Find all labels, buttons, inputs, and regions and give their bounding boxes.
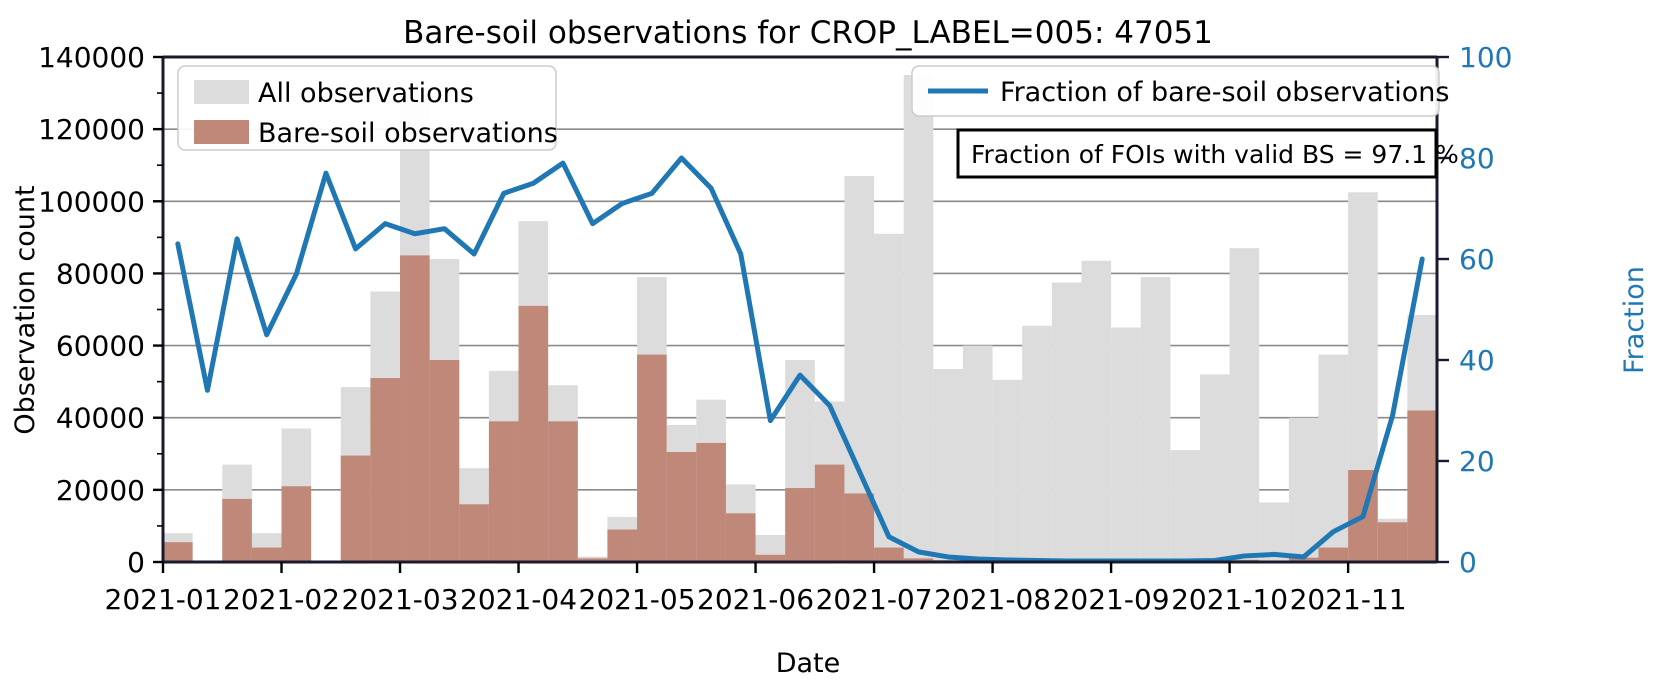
y2-tick-label: 40	[1459, 344, 1495, 377]
x-tick-label: 2021-05	[579, 583, 696, 616]
bar-bare-soil-observations	[696, 443, 726, 562]
y-axis-label: Observation count	[10, 185, 41, 434]
y2-tick-label: 20	[1459, 445, 1495, 478]
bar-all-observations	[1052, 282, 1082, 562]
bar-bare-soil-observations	[370, 378, 400, 562]
bar-all-observations	[993, 380, 1023, 562]
x-tick-label: 2021-06	[697, 583, 814, 616]
x-tick-label: 2021-01	[105, 583, 222, 616]
bar-bare-soil-observations	[815, 465, 845, 562]
bar-bare-soil-observations	[341, 456, 371, 562]
legend-right[interactable]: Fraction of bare-soil observations	[912, 66, 1449, 116]
bar-bare-soil-observations	[400, 255, 430, 562]
bar-bare-soil-observations	[489, 421, 519, 562]
chart-title: Bare-soil observations for CROP_LABEL=00…	[403, 15, 1213, 51]
x-tick-label: 2021-02	[223, 583, 340, 616]
x-tick-label: 2021-11	[1290, 583, 1407, 616]
legend-label-fraction: Fraction of bare-soil observations	[1000, 77, 1449, 108]
bar-all-observations	[1170, 450, 1200, 562]
y-tick-label: 120000	[38, 113, 145, 146]
bar-bare-soil-observations	[548, 421, 578, 562]
bar-bare-soil-observations	[637, 355, 667, 562]
bar-bare-soil-observations	[667, 452, 697, 562]
y2-tick-label: 80	[1459, 142, 1495, 175]
x-axis-label: Date	[776, 648, 841, 679]
chart-svg: Bare-soil observations for CROP_LABEL=00…	[0, 0, 1670, 690]
x-tick-label: 2021-09	[1053, 583, 1170, 616]
y-tick-label: 60000	[56, 330, 145, 363]
bar-bare-soil-observations	[1378, 522, 1408, 562]
y2-tick-label: 0	[1459, 546, 1477, 579]
y2-axis-label: Fraction	[1619, 266, 1650, 374]
legend-label-all-observations: All observations	[258, 78, 474, 109]
bar-all-observations	[933, 369, 963, 562]
x-tick-label: 2021-04	[460, 583, 577, 616]
bar-all-observations	[904, 75, 934, 562]
y-tick-label: 20000	[56, 474, 145, 507]
bar-bare-soil-observations	[874, 548, 904, 562]
y-tick-label: 100000	[38, 185, 145, 218]
bar-bare-soil-observations	[1318, 548, 1348, 562]
bar-bare-soil-observations	[519, 306, 549, 562]
bar-all-observations	[1081, 261, 1111, 562]
bar-all-observations	[1141, 277, 1171, 562]
legend-swatch-all-observations	[194, 80, 249, 104]
annotation-text: Fraction of FOIs with valid BS = 97.1 %	[971, 140, 1459, 169]
bar-all-observations	[1200, 374, 1230, 562]
bar-all-observations	[1289, 418, 1319, 562]
bar-bare-soil-observations	[1407, 411, 1437, 563]
chart-figure: Bare-soil observations for CROP_LABEL=00…	[0, 0, 1670, 690]
y-tick-label: 0	[127, 546, 145, 579]
legend-swatch-bare-soil-observations	[194, 120, 249, 144]
bar-bare-soil-observations	[252, 548, 282, 562]
y-tick-label: 40000	[56, 402, 145, 435]
y2-tick-label: 100	[1459, 41, 1512, 74]
bar-bare-soil-observations	[459, 504, 489, 562]
bar-all-observations	[1022, 326, 1052, 562]
y2-tick-label: 60	[1459, 243, 1495, 276]
bar-bare-soil-observations	[282, 486, 312, 562]
bar-bare-soil-observations	[163, 542, 193, 562]
bar-all-observations	[1230, 248, 1260, 562]
bar-bare-soil-observations	[607, 530, 637, 562]
bar-bare-soil-observations	[726, 513, 756, 562]
bar-all-observations	[1111, 328, 1141, 562]
x-tick-label: 2021-03	[342, 583, 459, 616]
bar-bare-soil-observations	[844, 493, 874, 562]
y-tick-label: 140000	[38, 41, 145, 74]
x-tick-label: 2021-10	[1171, 583, 1288, 616]
legend-left[interactable]: All observations Bare-soil observations	[178, 66, 558, 150]
x-tick-label: 2021-07	[816, 583, 933, 616]
bar-all-observations	[963, 346, 993, 562]
bar-bare-soil-observations	[785, 488, 815, 562]
x-tick-label: 2021-08	[934, 583, 1051, 616]
legend-label-bare-soil-observations: Bare-soil observations	[258, 118, 558, 149]
bar-bare-soil-observations	[430, 360, 460, 562]
y-tick-label: 80000	[56, 257, 145, 290]
bar-bare-soil-observations	[222, 499, 252, 562]
